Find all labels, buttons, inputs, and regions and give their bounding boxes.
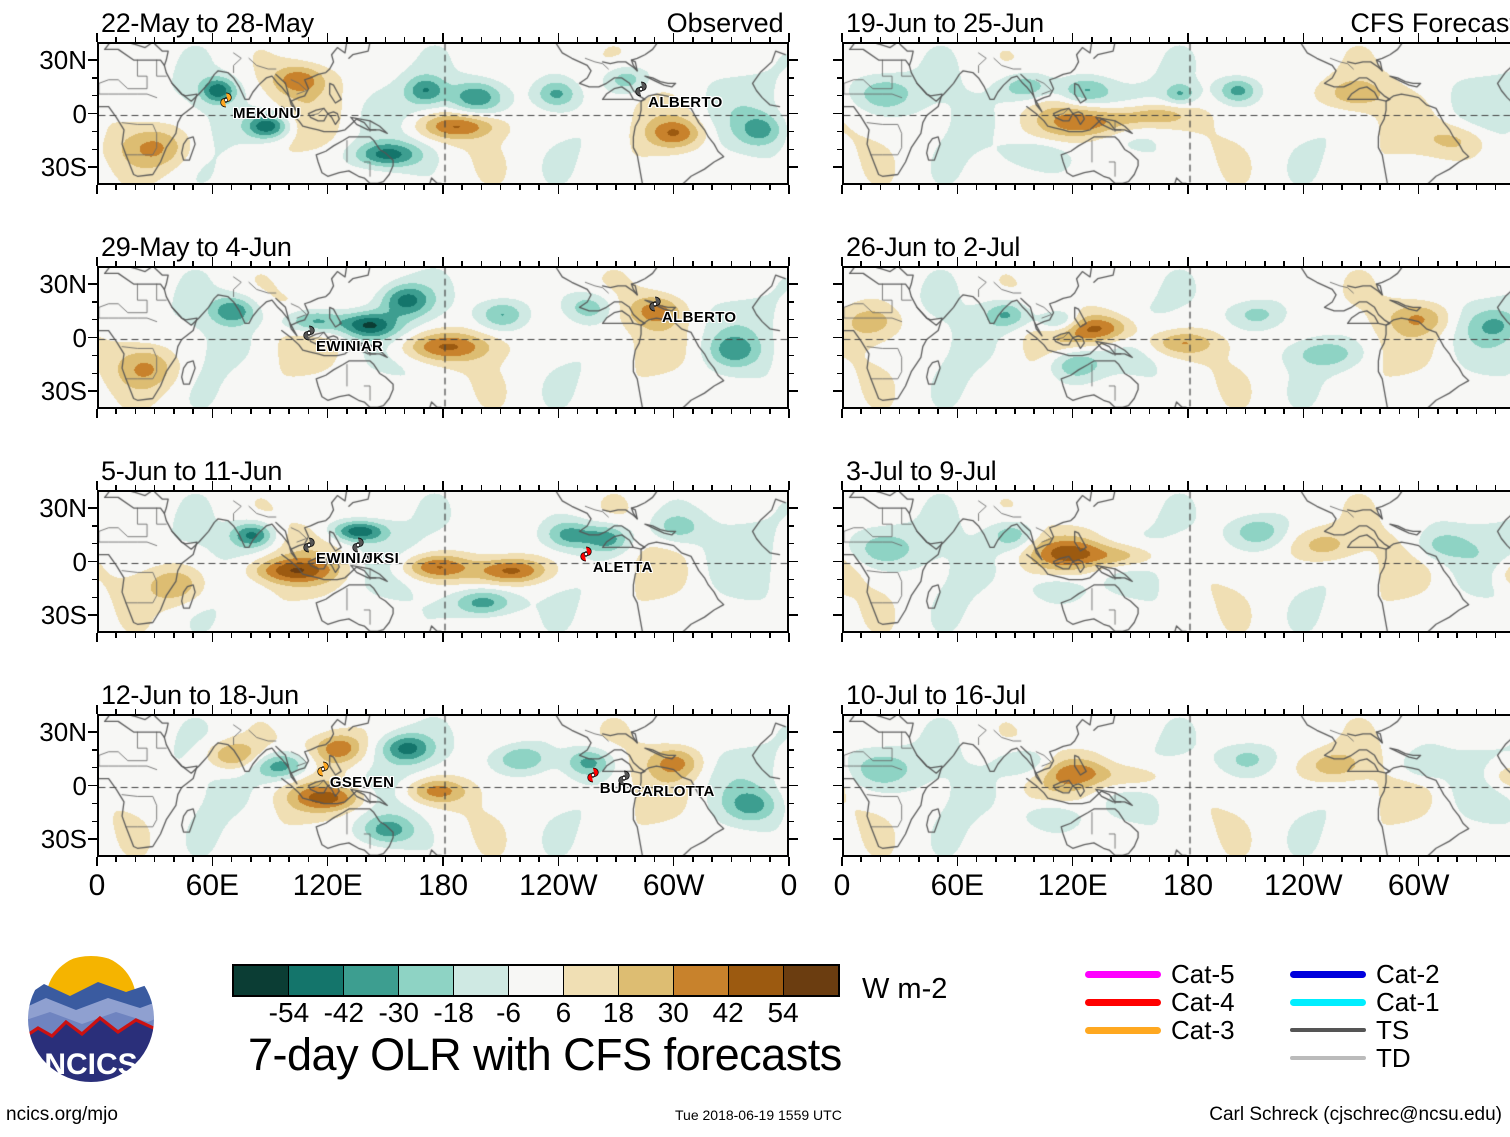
colorbar-units-label: W m-2 [862,975,947,1004]
olr-field-fcst-1 [844,44,1510,185]
x-tick-label: 120W [519,871,597,901]
map-obs-4: GSEVENBUDCARLOTTA [97,714,789,857]
colorbar-segment [783,966,838,995]
x-tick-label: 0 [781,871,798,901]
colorbar-segment [288,966,343,995]
cyclone-legend-right: Cat-2Cat-1TSTD [1290,960,1440,1072]
y-tick-label: 0 [0,773,87,799]
colorbar-segment [728,966,783,995]
olr-field-fcst-3 [844,492,1510,633]
legend-swatch-cat-5 [1085,971,1161,978]
colorbar: -54-42-30-18-6618304254 [232,964,840,1031]
cyclone-legend-left: Cat-5Cat-4Cat-3 [1085,960,1235,1044]
colorbar-segment [398,966,453,995]
x-tick-label: 120E [293,871,363,901]
olr-field-obs-3 [99,492,789,633]
olr-field-fcst-4 [844,716,1510,857]
column-header-observed: Observed [667,10,784,37]
map-fcst-4 [842,714,1510,857]
map-obs-2: EWINIARALBERTO [97,266,789,409]
legend-label: TS [1376,1017,1409,1043]
footer-website[interactable]: ncics.org/mjo [6,1104,118,1126]
olr-field-obs-2 [99,268,789,409]
colorbar-strip [232,964,840,997]
panel-title-fcst-2: 26-Jun to 2-Jul [846,234,1020,261]
column-header-forecast: CFS Forecast [1350,10,1510,37]
olr-field-obs-4 [99,716,789,857]
y-tick-label: 30N [0,271,87,297]
legend-label: Cat-5 [1171,961,1235,987]
panel-title-fcst-3: 3-Jul to 9-Jul [846,458,996,485]
map-obs-1: MEKUNUALBERTO [97,42,789,185]
legend-label: Cat-1 [1376,989,1440,1015]
panel-title-obs-1: 22-May to 28-May [101,10,314,37]
legend-row-cat-3: Cat-3 [1085,1016,1235,1044]
colorbar-tick: 6 [556,999,572,1027]
legend-swatch-cat-1 [1290,999,1366,1006]
legend-row-cat-2: Cat-2 [1290,960,1440,988]
colorbar-tick: -6 [496,999,521,1027]
y-tick-label: 30N [0,495,87,521]
x-tick-label: 180 [418,871,468,901]
colorbar-tick: 54 [768,999,799,1027]
panel-title-obs-4: 12-Jun to 18-Jun [101,682,299,709]
legend-label: Cat-2 [1376,961,1440,987]
colorbar-segment [563,966,618,995]
colorbar-tick: 18 [603,999,634,1027]
legend-swatch-cat-3 [1085,1027,1161,1034]
panel-title-obs-3: 5-Jun to 11-Jun [101,458,282,485]
colorbar-tick: 30 [658,999,689,1027]
ncics-logo: NCICS [20,948,162,1090]
x-tick-label: 60E [931,871,984,901]
y-tick-label: 30N [0,47,87,73]
panel-title-fcst-1: 19-Jun to 25-Jun [846,10,1044,37]
colorbar-tick: -30 [378,999,418,1027]
y-tick-label: 30S [0,378,87,404]
map-fcst-2 [842,266,1510,409]
x-tick-label: 180 [1163,871,1213,901]
footer-timestamp: Tue 2018-06-19 1559 UTC [675,1107,842,1123]
colorbar-tick: -18 [433,999,473,1027]
colorbar-segment [234,966,288,995]
colorbar-tick: -54 [269,999,309,1027]
x-tick-label: 60E [186,871,239,901]
y-tick-label: 30N [0,719,87,745]
legend-label: Cat-4 [1171,989,1235,1015]
x-tick-label: 0 [89,871,106,901]
legend-label: Cat-3 [1171,1017,1235,1043]
olr-field-obs-1 [99,44,789,185]
map-fcst-1 [842,42,1510,185]
legend-swatch-cat-4 [1085,999,1161,1006]
map-fcst-3 [842,490,1510,633]
colorbar-segment [673,966,728,995]
panel-title-obs-2: 29-May to 4-Jun [101,234,292,261]
y-tick-label: 0 [0,549,87,575]
legend-row-ts: TS [1290,1016,1440,1044]
y-tick-label: 30S [0,154,87,180]
colorbar-segment [618,966,673,995]
x-tick-label: 120W [1264,871,1342,901]
legend-row-cat-1: Cat-1 [1290,988,1440,1016]
colorbar-tick: 42 [713,999,744,1027]
panel-title-fcst-4: 10-Jul to 16-Jul [846,682,1026,709]
page-title: 7-day OLR with CFS forecasts [248,1032,842,1077]
colorbar-tick-labels: -54-42-30-18-6618304254 [232,997,840,1031]
olr-field-fcst-2 [844,268,1510,409]
legend-swatch-cat-2 [1290,971,1366,978]
legend-label: TD [1376,1045,1411,1071]
x-tick-label: 60W [1388,871,1450,901]
y-tick-label: 0 [0,325,87,351]
colorbar-tick: -42 [324,999,364,1027]
y-tick-label: 30S [0,826,87,852]
y-tick-label: 0 [0,101,87,127]
x-tick-label: 60W [643,871,705,901]
legend-swatch-td [1290,1056,1366,1060]
colorbar-segment [343,966,398,995]
map-obs-3: EWINIARJKSIALETTA [97,490,789,633]
y-tick-label: 30S [0,602,87,628]
legend-row-td: TD [1290,1044,1440,1072]
footer-author[interactable]: Carl Schreck (cjschrec@ncsu.edu) [1209,1104,1502,1126]
legend-row-cat-5: Cat-5 [1085,960,1235,988]
colorbar-segment [508,966,563,995]
colorbar-segment [453,966,508,995]
legend-row-cat-4: Cat-4 [1085,988,1235,1016]
svg-text:NCICS: NCICS [44,1048,137,1081]
x-tick-label: 120E [1038,871,1108,901]
legend-swatch-ts [1290,1028,1366,1032]
x-tick-label: 0 [834,871,851,901]
